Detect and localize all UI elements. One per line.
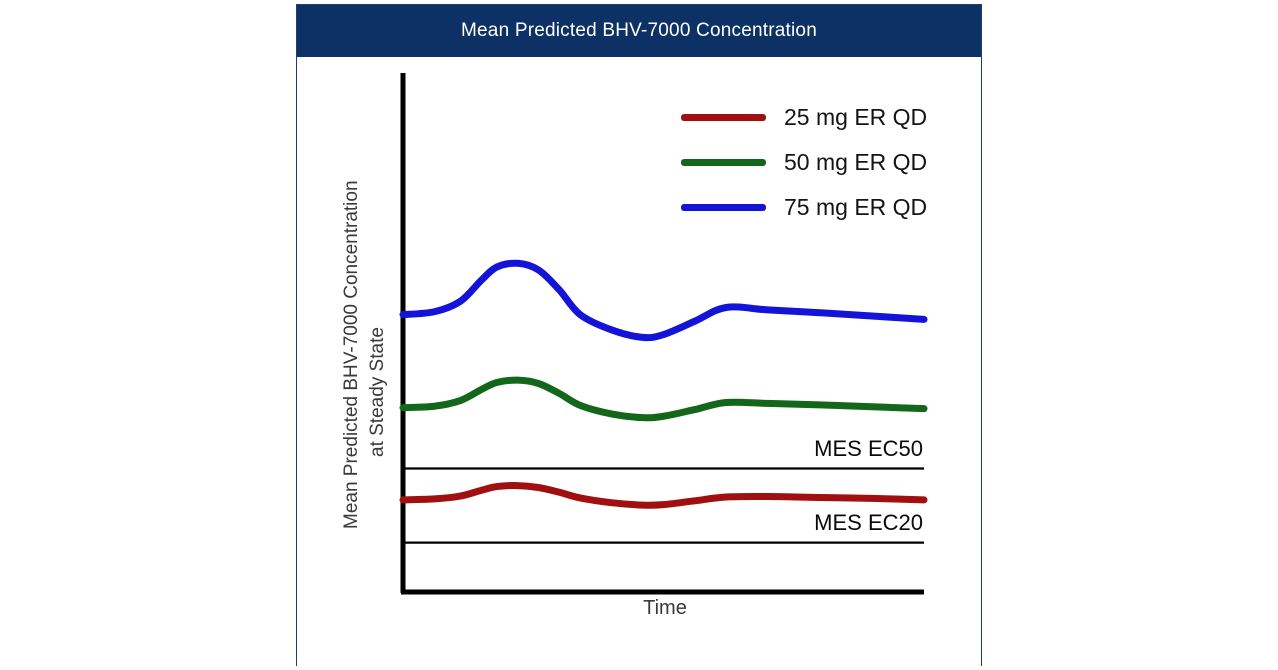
x-axis-label: Time	[403, 597, 927, 620]
legend-label-25mg: 25 mg ER QD	[784, 104, 927, 131]
reference-label-mes-ec20: MES EC20	[727, 510, 923, 536]
legend-item-50mg: 50 mg ER QD	[681, 140, 951, 185]
chart-panel: Mean Predicted BHV-7000 Concentration Me…	[296, 4, 982, 666]
legend-item-25mg: 25 mg ER QD	[681, 95, 951, 140]
panel-title-bar: Mean Predicted BHV-7000 Concentration	[297, 5, 981, 57]
chart-legend: 25 mg ER QD 50 mg ER QD 75 mg ER QD	[681, 95, 951, 230]
legend-item-75mg: 75 mg ER QD	[681, 185, 951, 230]
legend-label-50mg: 50 mg ER QD	[784, 149, 927, 176]
series-line-25mg	[403, 486, 924, 506]
legend-swatch-75mg	[681, 204, 766, 211]
series-line-75mg	[403, 263, 924, 337]
panel-title: Mean Predicted BHV-7000 Concentration	[461, 20, 817, 42]
reference-label-mes-ec50: MES EC50	[727, 436, 923, 462]
legend-swatch-25mg	[681, 114, 766, 121]
plot-body: Mean Predicted BHV-7000 Concentration at…	[297, 57, 981, 666]
screenshot-root: Mean Predicted BHV-7000 Concentration Me…	[0, 0, 1278, 670]
legend-swatch-50mg	[681, 159, 766, 166]
series-line-50mg	[403, 380, 924, 418]
legend-label-75mg: 75 mg ER QD	[784, 194, 927, 221]
